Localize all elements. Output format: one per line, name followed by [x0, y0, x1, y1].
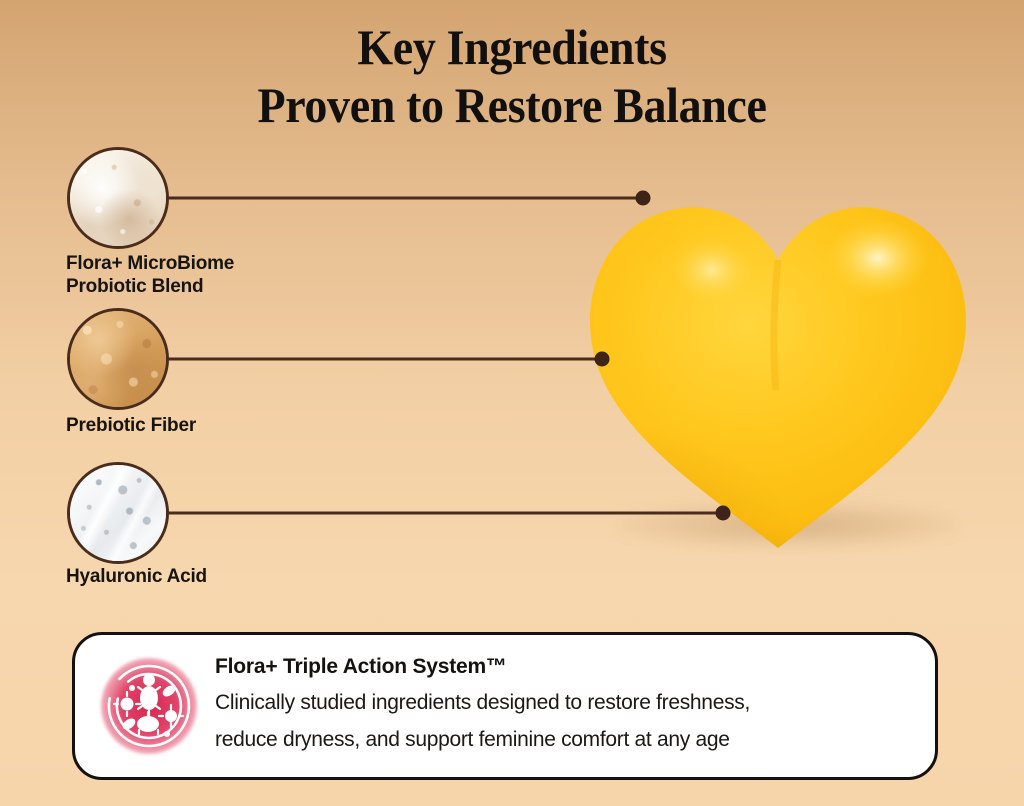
prebiotic-fiber-swatch: [67, 308, 169, 410]
callout-card: Flora+ Triple Action System™ Clinically …: [72, 632, 938, 780]
callout-title: Flora+ Triple Action System™: [215, 655, 750, 679]
probiotic-powder-swatch: [67, 147, 169, 249]
powder-texture: [70, 150, 166, 246]
callout-body: Clinically studied ingredients designed …: [215, 684, 750, 758]
hyaluronic-acid-swatch: [67, 462, 169, 564]
probiotic-microbe-icon: [97, 654, 201, 758]
ingredient-label: Flora+ MicroBiome Probiotic Blend: [66, 253, 366, 298]
ingredient-label: Prebiotic Fiber: [66, 415, 366, 438]
ingredient-label: Hyaluronic Acid: [66, 566, 366, 589]
gel-texture: [70, 465, 166, 561]
powder-texture: [70, 311, 166, 407]
